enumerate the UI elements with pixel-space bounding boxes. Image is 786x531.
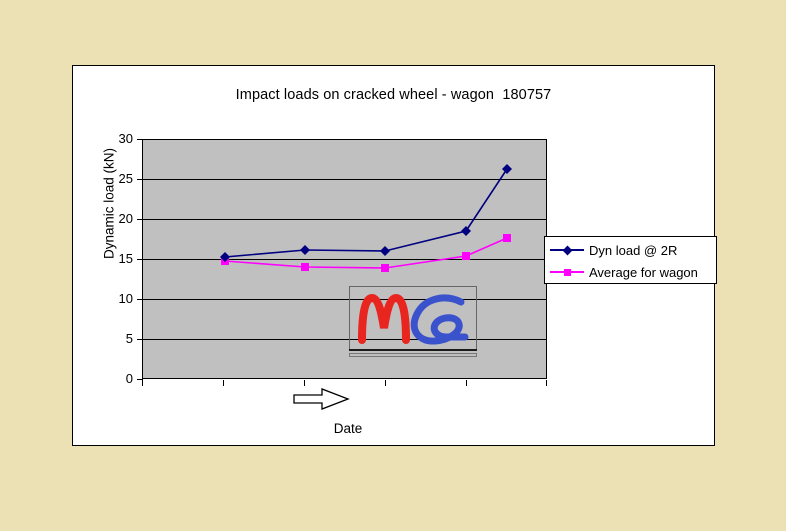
y-axis-tick-label: 0	[93, 374, 133, 384]
data-point-marker	[502, 164, 512, 174]
legend-swatch-dyn-load-2r	[550, 244, 584, 256]
legend-item-dyn-load-2r[interactable]: Dyn load @ 2R	[550, 239, 677, 261]
x-axis-tick	[223, 380, 224, 386]
data-point-marker	[380, 246, 390, 256]
legend-label: Dyn load @ 2R	[589, 243, 677, 258]
y-axis-tick-label: 10	[93, 294, 133, 304]
y-axis-tick-label: 20	[93, 214, 133, 224]
data-point-marker	[381, 264, 389, 272]
gridline	[143, 378, 546, 379]
data-point-marker	[300, 245, 310, 255]
data-point-marker	[462, 252, 470, 260]
chart-legend: Dyn load @ 2R Average for wagon	[544, 236, 717, 284]
series-plot	[143, 140, 546, 378]
y-axis-tick-label: 5	[93, 334, 133, 344]
chart-title: Impact loads on cracked wheel - wagon 18…	[73, 87, 714, 103]
chart-container: Impact loads on cracked wheel - wagon 18…	[72, 65, 715, 446]
y-axis-tick-label: 30	[93, 134, 133, 144]
x-axis-tick	[546, 380, 547, 386]
legend-swatch-average-for-wagon	[550, 266, 584, 278]
series-line-dyn-load-2r	[225, 169, 507, 257]
data-point-marker	[461, 226, 471, 236]
legend-label: Average for wagon	[589, 265, 698, 280]
x-axis-tick	[142, 380, 143, 386]
y-axis-tick-label: 25	[93, 174, 133, 184]
x-axis-tick	[466, 380, 467, 386]
date-arrow-icon	[292, 386, 350, 412]
data-point-marker	[503, 234, 511, 242]
data-point-marker	[301, 263, 309, 271]
y-axis-tick-label: 15	[93, 254, 133, 264]
x-axis-tick	[385, 380, 386, 386]
plot-area	[142, 139, 547, 379]
legend-item-average-for-wagon[interactable]: Average for wagon	[550, 261, 698, 283]
x-axis-title: Date	[288, 421, 408, 436]
